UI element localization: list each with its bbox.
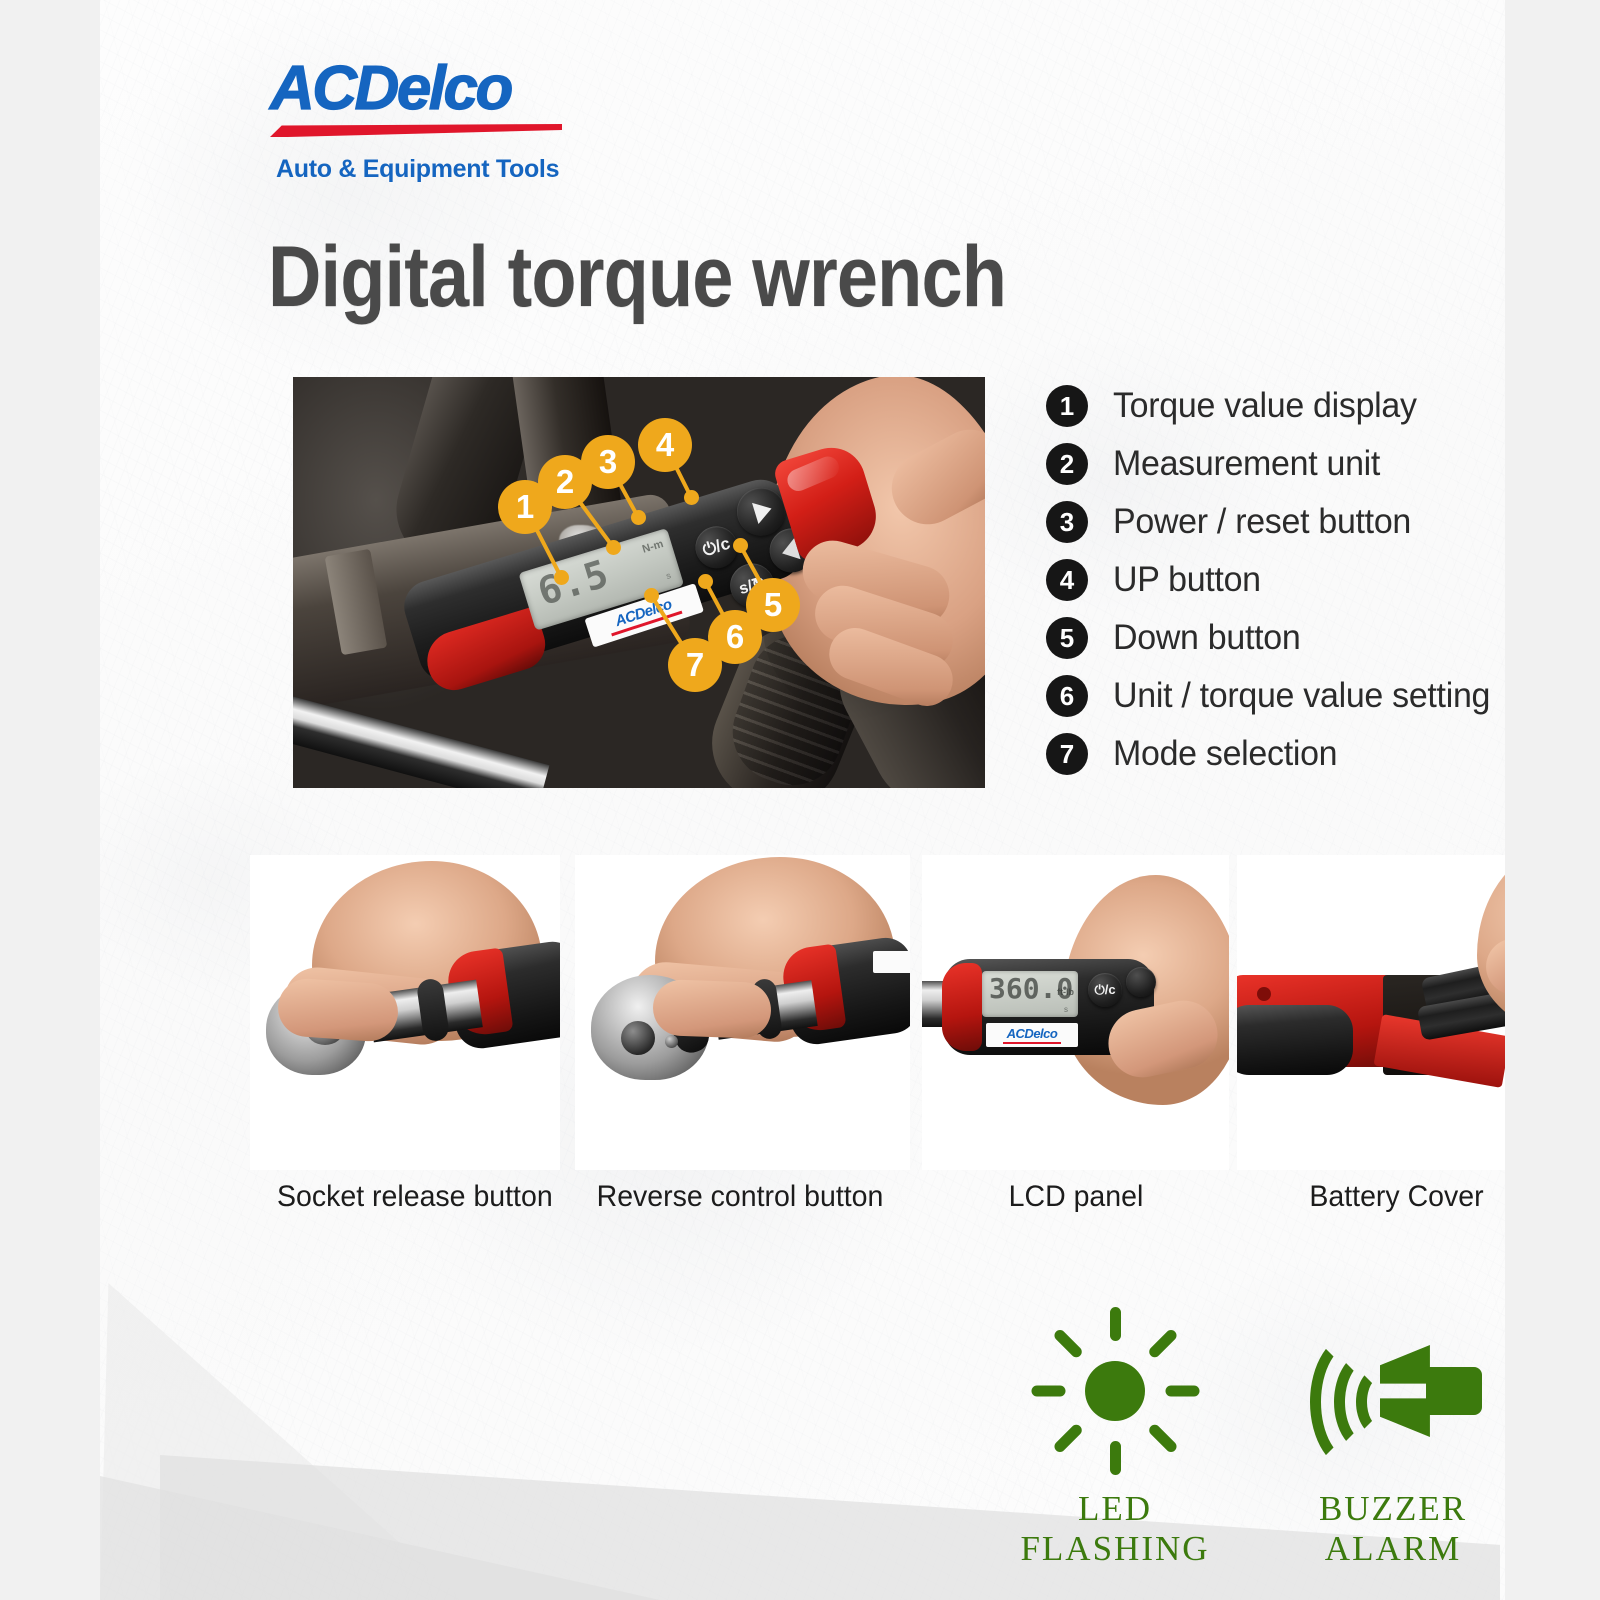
sun-core (1085, 1361, 1145, 1421)
feature-label: Power / reset button (1113, 502, 1411, 542)
callout-target-dot (733, 538, 748, 553)
photo-card-battery-cover (1237, 855, 1505, 1170)
feature-label: Mode selection (1113, 734, 1337, 774)
feature-label: Down button (1113, 618, 1300, 658)
callout-marker-7: 7 (668, 638, 722, 692)
feature-label: Torque value display (1113, 386, 1417, 426)
sun-ray (1147, 1328, 1179, 1360)
wrench-red-grip (942, 963, 982, 1051)
page-title: Digital torque wrench (268, 228, 1006, 327)
callout-target-dot (606, 540, 621, 555)
decorative-triangle-a (100, 1255, 520, 1600)
callout-target-dot (698, 574, 713, 589)
feature-label: BUZZER ALARM (1268, 1489, 1505, 1569)
card-caption: Battery Cover (1253, 1180, 1505, 1214)
feature-row: 3Power / reset button (1046, 493, 1505, 551)
feature-led-flashing: LED FLASHING (990, 1305, 1240, 1569)
feature-row: 5Down button (1046, 609, 1505, 667)
feature-label: LED FLASHING (990, 1489, 1240, 1569)
speaker-body (1426, 1367, 1482, 1415)
screw-icon (665, 1035, 678, 1048)
brand-plate-red-bar (1003, 1042, 1061, 1044)
feature-list: 1Torque value display2Measurement unit3P… (1046, 377, 1505, 783)
feature-number-badge: 6 (1046, 675, 1088, 717)
index-finger (652, 979, 772, 1039)
feature-row: 2Measurement unit (1046, 435, 1505, 493)
speaker-buzzer-icon (1298, 1305, 1488, 1477)
brand-plate (873, 951, 910, 973)
sun-ray (1110, 1307, 1121, 1341)
callout-marker-3: 3 (581, 435, 635, 489)
lcd-screen: 360.0 ft-lb s (982, 971, 1078, 1017)
logo-tagline: Auto & Equipment Tools (276, 155, 690, 184)
brand-plate-label: ACDelco (1007, 1027, 1058, 1040)
card-caption: Socket release button (277, 1180, 543, 1214)
lcd-unit-label: ft-lb (1057, 987, 1074, 997)
photo-card-lcd-panel: 360.0 ft-lb s ACDelco ⏻/c (922, 855, 1229, 1170)
callout-markers-layer: 1234567 (293, 377, 985, 788)
alert-features: LED FLASHING BUZZER ALARM (990, 1305, 1505, 1555)
feature-buzzer-alarm: BUZZER ALARM (1268, 1305, 1505, 1569)
brand-logo: ACDelco Auto & Equipment Tools (270, 58, 690, 184)
sun-ray (1052, 1422, 1084, 1454)
square-drive-icon (621, 1021, 655, 1055)
callout-target-dot (644, 588, 659, 603)
callout-target-dot (684, 490, 699, 505)
sun-ray (1166, 1386, 1200, 1397)
feature-label: Measurement unit (1113, 444, 1380, 484)
feature-number-badge: 4 (1046, 559, 1088, 601)
brand-plate: ACDelco (986, 1023, 1078, 1047)
feature-row: 6Unit / torque value setting (1046, 667, 1505, 725)
infographic-page: ACDelco Auto & Equipment Tools Digital t… (0, 0, 1600, 1600)
sun-ray (1110, 1441, 1121, 1475)
content-sheet: ACDelco Auto & Equipment Tools Digital t… (100, 0, 1505, 1600)
up-button-icon (1126, 967, 1156, 997)
detail-photo-row: 360.0 ft-lb s ACDelco ⏻/c (250, 855, 1505, 1170)
index-finger (276, 977, 400, 1043)
card-caption: LCD panel (937, 1180, 1214, 1214)
logo-wordmark: ACDelco (270, 58, 690, 120)
power-button-icon: ⏻/c (1088, 973, 1122, 1007)
feature-label: UP button (1113, 560, 1261, 600)
callout-marker-4: 4 (638, 418, 692, 472)
feature-row: 7Mode selection (1046, 725, 1505, 783)
sun-ray (1052, 1328, 1084, 1360)
feature-row: 1Torque value display (1046, 377, 1505, 435)
card-caption: Reverse control button (574, 1180, 907, 1214)
feature-number-badge: 7 (1046, 733, 1088, 775)
photo-card-socket-release (250, 855, 560, 1170)
sun-ray (1032, 1386, 1066, 1397)
feature-number-badge: 2 (1046, 443, 1088, 485)
sun-flash-icon (1029, 1305, 1201, 1477)
feature-row: 4UP button (1046, 551, 1505, 609)
lcd-mode-indicator: s (1064, 1005, 1068, 1014)
feature-label: Unit / torque value setting (1113, 676, 1490, 716)
callout-target-dot (554, 570, 569, 585)
callout-target-dot (631, 510, 646, 525)
hero-product-photo: 6.5 N-m s ACDelco ⏻/c s/↻ (293, 377, 985, 788)
wrench-black-grip (1237, 1005, 1353, 1075)
feature-number-badge: 5 (1046, 617, 1088, 659)
photo-card-reverse-control (575, 855, 910, 1170)
logo-swoosh-icon (270, 124, 562, 137)
feature-number-badge: 3 (1046, 501, 1088, 543)
feature-number-badge: 1 (1046, 385, 1088, 427)
decorative-triangle-b (100, 1400, 660, 1600)
screw-hole-icon (1257, 987, 1271, 1001)
sun-ray (1147, 1422, 1179, 1454)
